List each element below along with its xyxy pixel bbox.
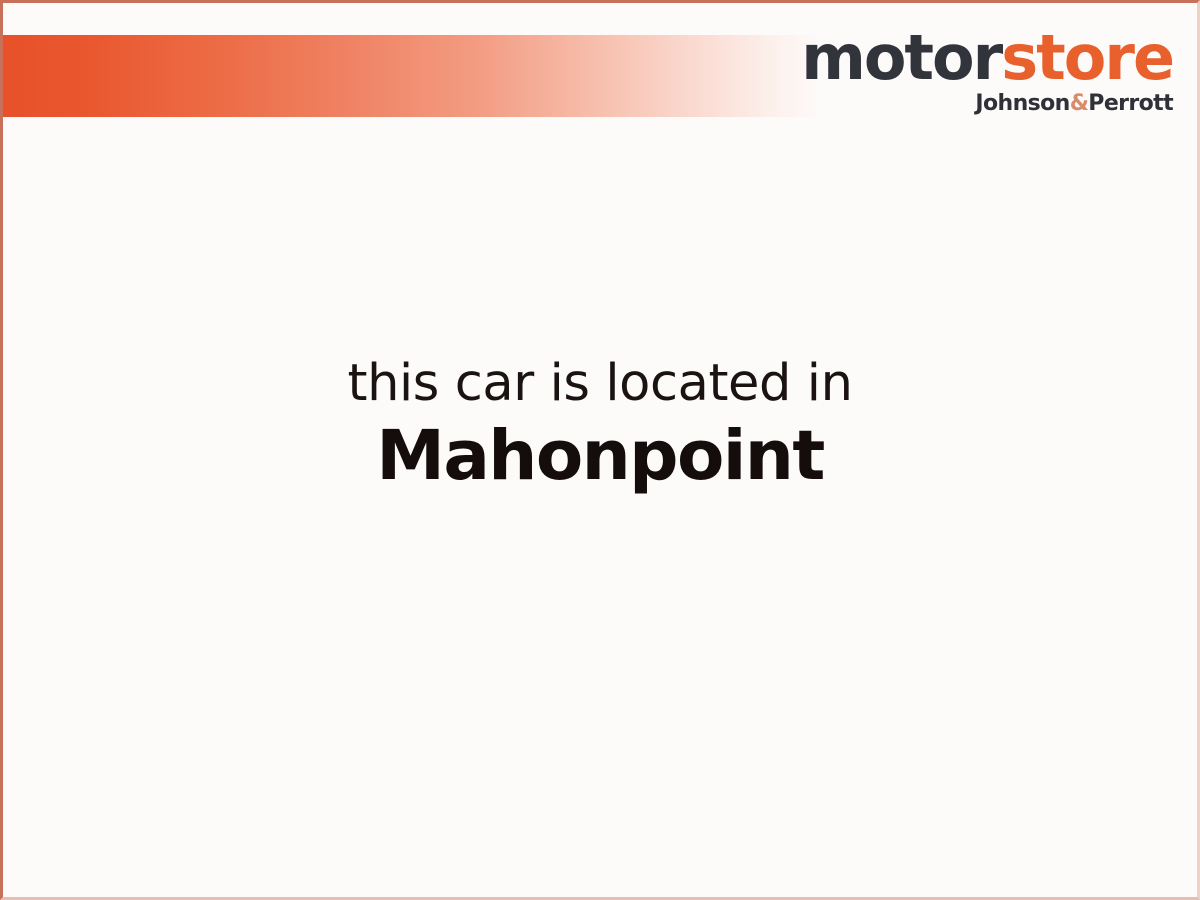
logo-wordmark: motorstore bbox=[801, 27, 1173, 89]
logo-wordmark-store: store bbox=[1001, 21, 1173, 94]
location-card: motorstore Johnson&Perrott this car is l… bbox=[0, 0, 1200, 900]
location-name: Mahonpoint bbox=[3, 418, 1197, 495]
motorstore-logo: motorstore Johnson&Perrott bbox=[801, 27, 1173, 115]
brand-gradient-band bbox=[3, 35, 821, 117]
logo-subtitle-perrott: Perrott bbox=[1088, 91, 1173, 116]
logo-subtitle-ampersand-icon: & bbox=[1070, 91, 1089, 116]
logo-subtitle: Johnson&Perrott bbox=[801, 93, 1173, 115]
location-message-prefix: this car is located in bbox=[3, 355, 1197, 412]
logo-wordmark-motor: motor bbox=[801, 21, 1001, 94]
location-message: this car is located in Mahonpoint bbox=[3, 355, 1197, 495]
logo-subtitle-johnson: Johnson bbox=[975, 91, 1069, 116]
